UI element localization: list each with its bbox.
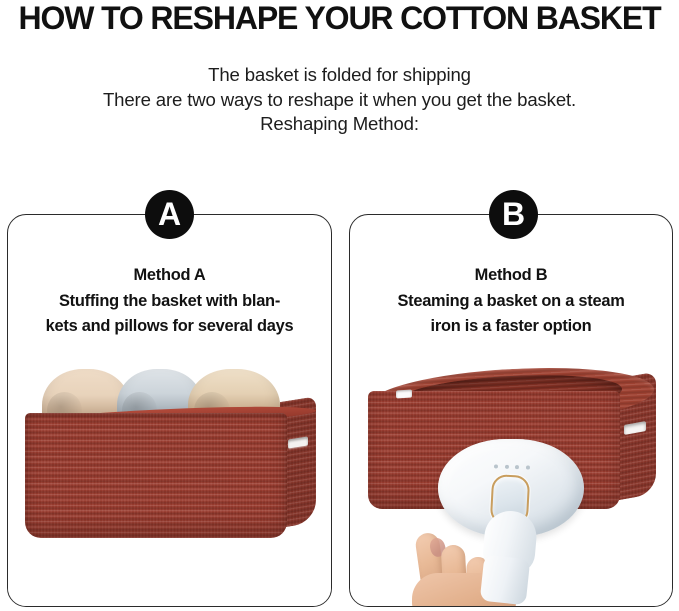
method-a-badge: A	[145, 190, 194, 239]
filled-basket-illustration	[22, 369, 316, 541]
garment-steamer-icon	[438, 439, 584, 599]
steamer-dot	[494, 464, 498, 468]
subtitle-line-1: The basket is folded for shipping	[0, 63, 679, 88]
method-a-title: Method A	[16, 263, 323, 289]
basket-a-front-panel	[25, 413, 287, 538]
method-a-description-line-2: kets and pillows for several days	[16, 314, 323, 340]
method-a-photo	[8, 347, 331, 606]
method-a-card: Method A Stuffing the basket with blan- …	[7, 214, 332, 607]
infographic-page: HOW TO RESHAPE YOUR COTTON BASKET The ba…	[0, 0, 679, 611]
steamer-dot	[526, 465, 530, 469]
method-b-title: Method B	[358, 263, 664, 289]
subtitle-line-3: Reshaping Method:	[0, 112, 679, 137]
method-a-text-block: Method A Stuffing the basket with blan- …	[16, 263, 323, 340]
method-b-photo	[350, 347, 672, 606]
method-b-description-line-1: Steaming a basket on a steam	[358, 289, 664, 315]
method-b-badge: B	[489, 190, 538, 239]
method-b-description-line-2: iron is a faster option	[358, 314, 664, 340]
page-subtitle: The basket is folded for shipping There …	[0, 63, 679, 137]
steamer-handle	[480, 555, 531, 606]
steamer-dot	[505, 464, 509, 468]
page-title: HOW TO RESHAPE YOUR COTTON BASKET	[5, 0, 674, 36]
steamer-dot	[515, 465, 519, 469]
basket-b-handle-cutout-left	[396, 390, 412, 399]
method-b-card: Method B Steaming a basket on a steam ir…	[349, 214, 673, 607]
method-a-description-line-1: Stuffing the basket with blan-	[16, 289, 323, 315]
subtitle-line-2: There are two ways to reshape it when yo…	[0, 88, 679, 113]
steamer-indicator-dots	[494, 462, 530, 470]
method-b-text-block: Method B Steaming a basket on a steam ir…	[358, 263, 664, 340]
